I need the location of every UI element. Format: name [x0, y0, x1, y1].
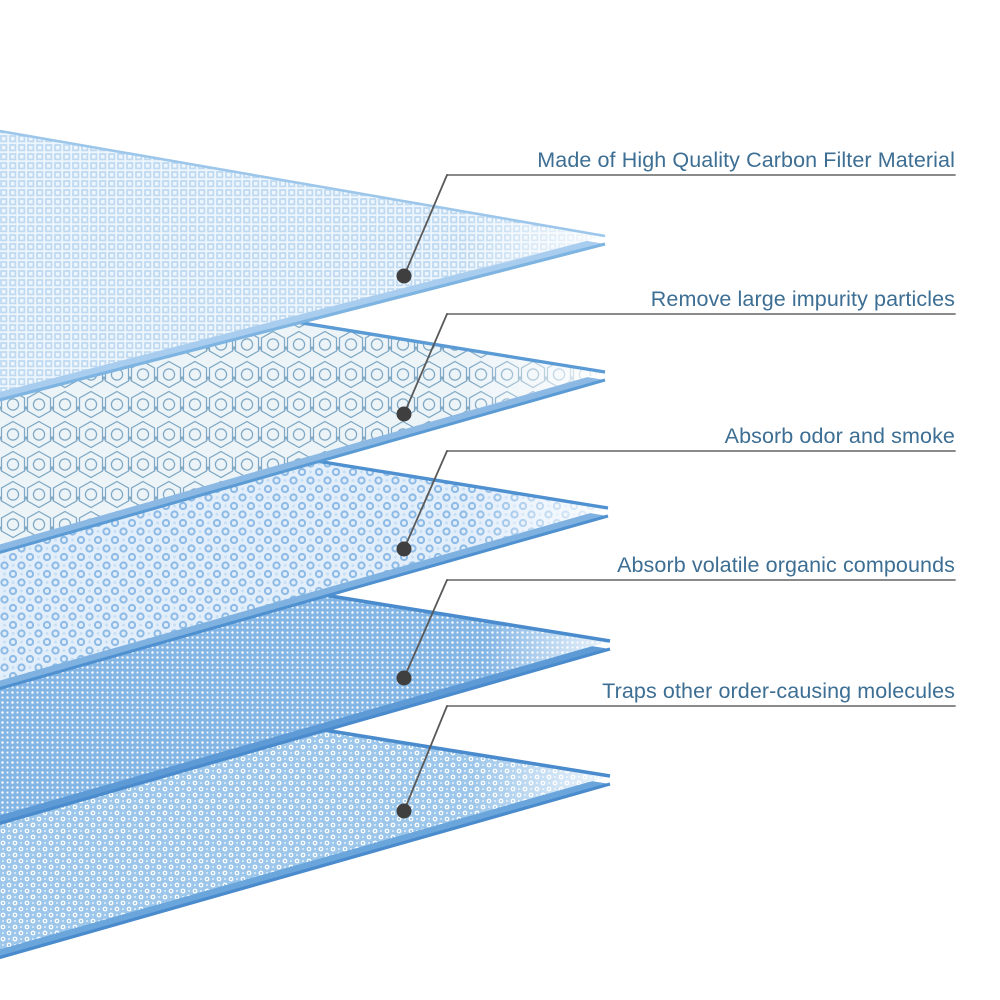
leader-4-dot: [397, 671, 412, 686]
callout-label-absorb-odor-and-smoke: Absorb odor and smoke: [725, 426, 955, 448]
callout-label-remove-large-impurity-particles: Remove large impurity particles: [651, 289, 955, 311]
leader-2-dot: [397, 407, 412, 422]
leader-1-dot: [397, 269, 412, 284]
leader-5-dot: [397, 804, 412, 819]
filter-layers-diagram: Made of High Quality Carbon Filter Mater…: [0, 0, 1000, 1000]
callout-label-carbon-filter-material: Made of High Quality Carbon Filter Mater…: [537, 150, 955, 172]
callout-label-traps-order-causing-molecules: Traps other order-causing molecules: [602, 681, 955, 703]
callout-label-absorb-volatile-organic-compounds: Absorb volatile organic compounds: [617, 555, 955, 577]
leader-3-dot: [397, 542, 412, 557]
